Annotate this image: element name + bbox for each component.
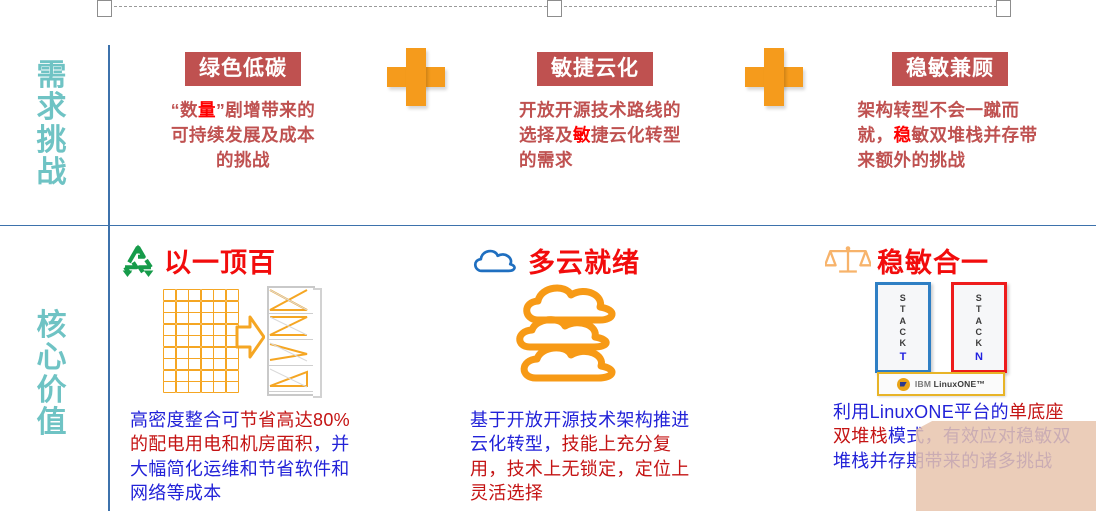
server-cell (201, 289, 214, 301)
server-cell (213, 301, 226, 313)
server-cell (188, 289, 201, 301)
server-rack (267, 286, 315, 396)
stack-letter: T (878, 304, 928, 315)
stack-letter: S (954, 293, 1004, 304)
server-cell (213, 335, 226, 347)
server-cell (201, 335, 214, 347)
linuxone-badge-text: IBM LinuxONE™ (915, 379, 985, 389)
row-label-needs: 需 求 挑 战 (22, 60, 82, 190)
cloud-shape-middle (520, 320, 606, 347)
server-cell (176, 335, 189, 347)
linuxone-wordmark: LinuxONE (934, 379, 977, 389)
server-cell (213, 289, 226, 301)
server-cell (163, 324, 176, 336)
stack-box-t: S T A C K T (875, 282, 931, 373)
slide-canvas: 需 求 挑 战 核 心 价 值 绿色低碳 “数量”剧增带来的可持续发展及成本的挑… (0, 0, 1096, 511)
server-cell (188, 358, 201, 370)
server-cell (163, 301, 176, 313)
value-card-multicloud-ready[interactable]: 多云就绪 基于开放开源技术架构推进云化转型，技能上充分复用，技术上无锁定，定位上… (470, 240, 800, 280)
stack-letter: C (878, 327, 928, 338)
plus-icon (745, 48, 803, 106)
row-label-char: 值 (22, 407, 82, 439)
server-grid (163, 289, 237, 391)
desc-segment: 利用LinuxONE平台的 (833, 402, 1009, 422)
server-cell (176, 312, 189, 324)
cloud-icon (470, 243, 522, 277)
server-cell (188, 324, 201, 336)
challenge-card-green-low-carbon[interactable]: 绿色低碳 “数量”剧增带来的可持续发展及成本的挑战 (128, 52, 358, 173)
plus-bar-vertical (764, 48, 784, 106)
trademark-symbol: ™ (976, 379, 985, 389)
server-cell (226, 289, 239, 301)
server-cell (176, 347, 189, 359)
selection-bracket[interactable] (97, 0, 1009, 16)
challenge-card-body: 架构转型不会一蹴而就，稳敏双堆栈并存带来额外的挑战 (858, 98, 1043, 173)
server-cell (201, 324, 214, 336)
body-segment-highlight: 量 (198, 100, 216, 120)
server-cell (213, 347, 226, 359)
server-cell (188, 335, 201, 347)
server-cell (213, 370, 226, 382)
server-cell (188, 370, 201, 382)
value-card-title: 多云就绪 (528, 241, 640, 280)
server-cell (226, 370, 239, 382)
challenge-card-agile-cloudification[interactable]: 敏捷云化 开放开源技术路线的选择及敏捷云化转型的需求 (480, 52, 710, 173)
server-cell (176, 381, 189, 393)
server-cell (163, 347, 176, 359)
rack-unit (269, 288, 313, 314)
challenge-card-body: “数量”剧增带来的可持续发展及成本的挑战 (168, 98, 318, 173)
value-card-one-equals-hundred[interactable]: 以一顶百 (118, 240, 448, 280)
selection-handle-left[interactable] (97, 0, 112, 17)
challenge-card-body: 开放开源技术路线的选择及敏捷云化转型的需求 (501, 98, 689, 173)
linuxone-logo-icon (897, 378, 910, 391)
challenge-card-header: 敏捷云化 (537, 52, 653, 86)
value-card-title: 以一顶百 (164, 241, 276, 280)
server-cell (213, 324, 226, 336)
row-label-char: 需 (22, 60, 82, 92)
server-cell (213, 312, 226, 324)
stack-letter: K (878, 338, 928, 349)
stack-letter: A (954, 316, 1004, 327)
value-card-description: 高密度整合可节省高达80%的配电用电和机房面积，并大幅简化运维和节省软件和网络等… (130, 408, 355, 506)
vertical-divider (108, 45, 110, 511)
arrow-right-icon (235, 314, 265, 360)
value-card-stable-agile-unified[interactable]: 稳敏合一 S T A C K T S T A C K (825, 240, 1090, 280)
cloud-shape-top (527, 288, 612, 320)
value-card-title-row: 稳敏合一 (825, 240, 1090, 280)
row-label-char: 挑 (22, 125, 82, 157)
selection-handle-right[interactable] (996, 0, 1011, 17)
server-cell (226, 381, 239, 393)
server-cell (188, 347, 201, 359)
server-cell (176, 324, 189, 336)
row-label-char: 战 (22, 157, 82, 189)
plus-bar-vertical (406, 48, 426, 106)
value-card-title-row: 以一顶百 (118, 240, 448, 280)
stack-box-n: S T A C K N (951, 282, 1007, 373)
server-cell (213, 381, 226, 393)
server-cell (176, 358, 189, 370)
cloud-stack-diagram (508, 280, 643, 400)
server-cell (201, 312, 214, 324)
decorative-ribbon-container (916, 421, 1096, 511)
server-cell (226, 301, 239, 313)
stack-letter: S (878, 293, 928, 304)
decorative-ribbon (916, 421, 1096, 511)
server-cell (188, 312, 201, 324)
rack-unit (269, 314, 313, 340)
rack-unit (269, 366, 313, 392)
plus-icon (387, 48, 445, 106)
stack-letter: C (954, 327, 1004, 338)
server-cell (188, 381, 201, 393)
recycle-icon (118, 243, 158, 277)
challenge-card-stable-agile-balance[interactable]: 稳敏兼顾 架构转型不会一蹴而就，稳敏双堆栈并存带来额外的挑战 (835, 52, 1065, 173)
stack-box-tag: T (878, 351, 928, 363)
stack-box-letters: S T A C K (878, 293, 928, 349)
server-cell (163, 312, 176, 324)
server-cell (201, 381, 214, 393)
row-label-char: 价 (22, 375, 82, 407)
server-cell (176, 289, 189, 301)
row-label-char: 求 (22, 92, 82, 124)
desc-segment: 高密度整合可 (130, 410, 240, 430)
server-cell (176, 370, 189, 382)
server-cell (213, 358, 226, 370)
linuxone-badge: IBM LinuxONE™ (877, 372, 1005, 396)
server-cell (201, 358, 214, 370)
server-density-diagram (163, 286, 311, 396)
server-cell (176, 301, 189, 313)
server-cell (163, 335, 176, 347)
body-segment-highlight: 敏 (573, 125, 591, 145)
challenge-card-header: 绿色低碳 (185, 52, 301, 86)
stack-letter: T (954, 304, 1004, 315)
selection-handle-middle[interactable] (547, 0, 562, 17)
server-cell (163, 370, 176, 382)
value-card-description: 基于开放开源技术架构推进云化转型，技能上充分复用，技术上无锁定，定位上灵活选择 (470, 408, 705, 506)
stack-letter: A (878, 316, 928, 327)
value-card-title-row: 多云就绪 (470, 240, 800, 280)
row-label-char: 心 (22, 342, 82, 374)
body-segment-highlight: 稳 (894, 125, 912, 145)
server-cell (163, 381, 176, 393)
horizontal-divider (0, 225, 1096, 226)
rack-unit (269, 340, 313, 366)
cloud-shape-bottom (524, 348, 612, 378)
stack-box-tag: N (954, 351, 1004, 363)
rack-side-panel (313, 288, 322, 398)
stack-box-letters: S T A C K (954, 293, 1004, 349)
value-card-title: 稳敏合一 (877, 241, 989, 280)
stack-letter: K (954, 338, 1004, 349)
dual-stack-diagram: S T A C K T S T A C K N (873, 282, 1038, 397)
row-label-core-value: 核 心 价 值 (22, 310, 82, 440)
balance-scale-icon (825, 242, 871, 278)
server-cell (188, 301, 201, 313)
server-cell (201, 370, 214, 382)
server-cell (201, 301, 214, 313)
server-cell (163, 289, 176, 301)
row-label-char: 核 (22, 310, 82, 342)
challenge-card-header: 稳敏兼顾 (892, 52, 1008, 86)
server-cell (163, 358, 176, 370)
ibm-wordmark: IBM (915, 379, 931, 389)
server-cell (201, 347, 214, 359)
body-segment: “数 (171, 100, 198, 120)
